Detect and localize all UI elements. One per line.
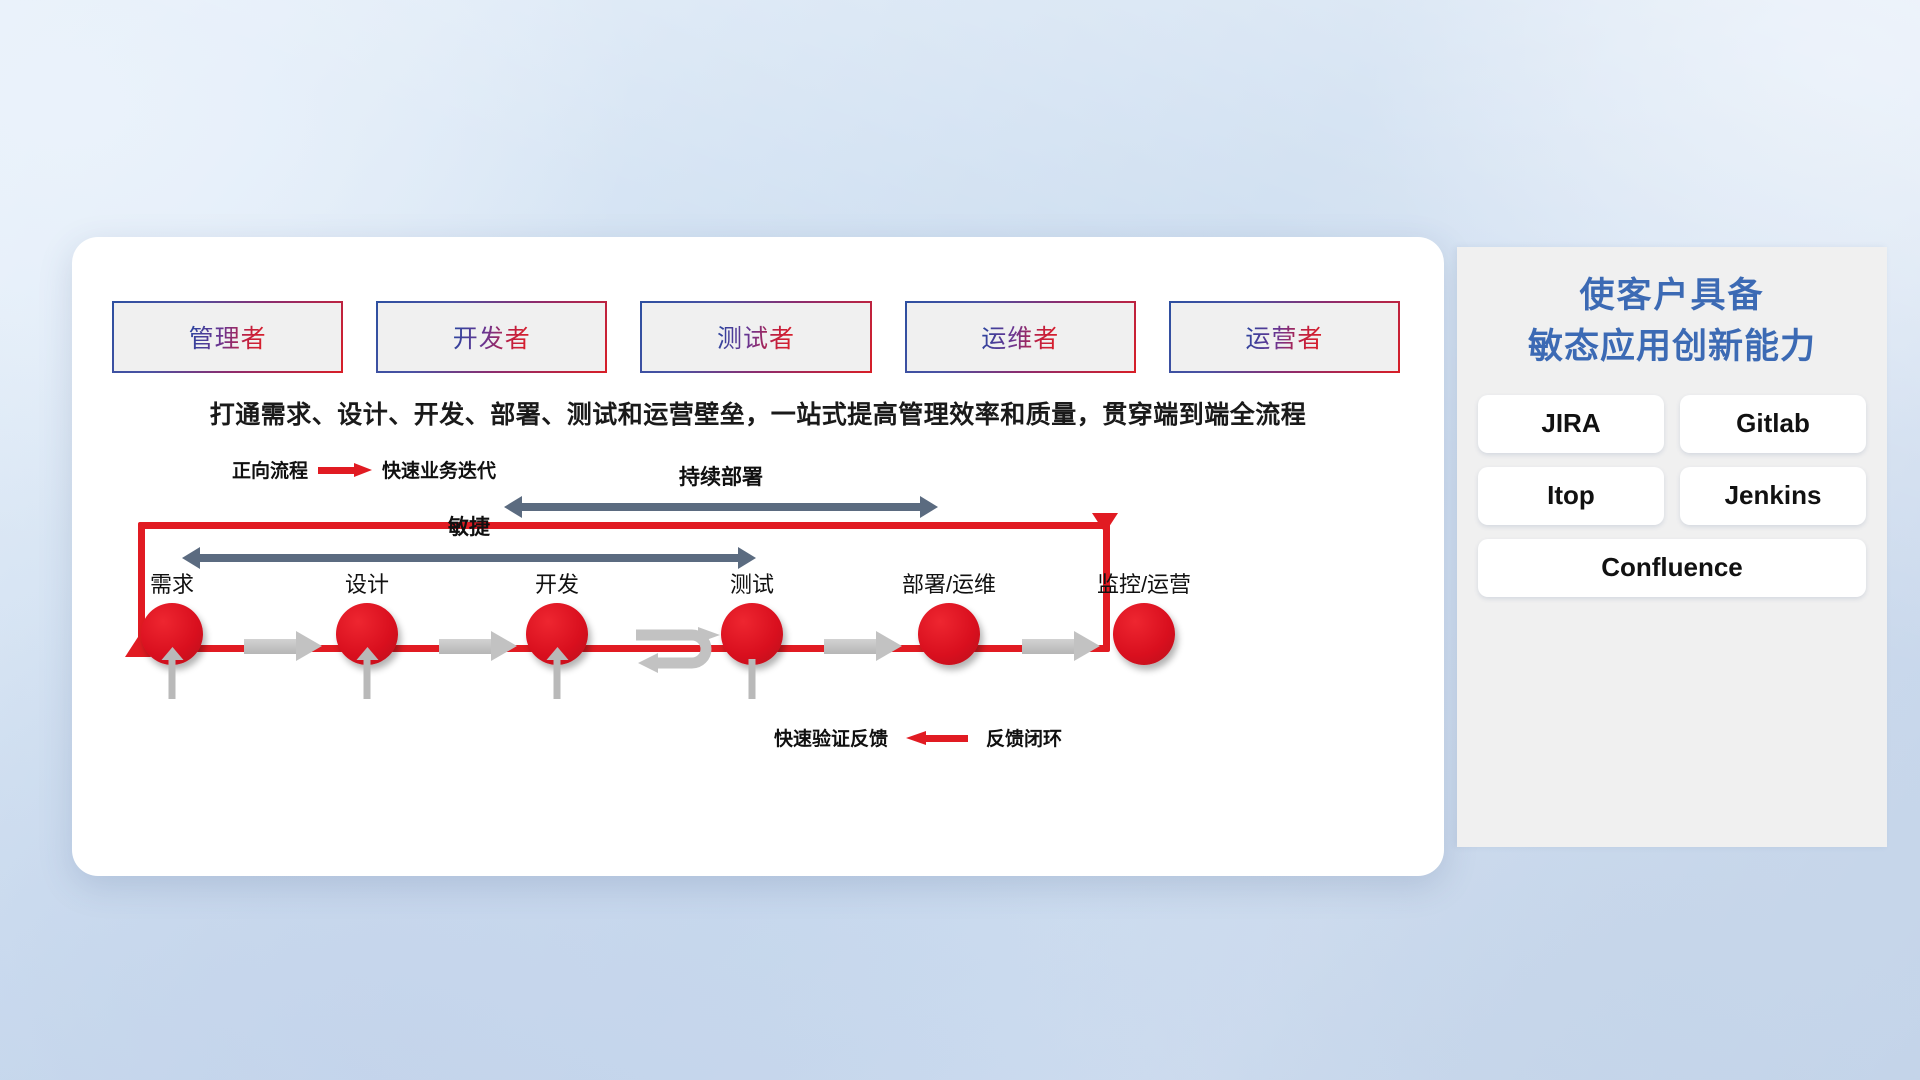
node-label: 监控/运营 [1084,567,1204,599]
role-box-ops[interactable]: 运维者 [905,301,1136,373]
role-label: 开发者 [453,319,531,355]
legend-forward-right-label: 快速业务迭代 [382,456,496,483]
legend-forward-left-label: 正向流程 [232,456,308,483]
node-label: 需求 [112,567,232,599]
right-panel-title: 使客户具备 敏态应用创新能力 [1457,247,1887,373]
role-label: 管理者 [189,319,267,355]
node-dot-icon [918,603,980,665]
arrow-head-left-icon [182,547,200,569]
node-label: 部署/运维 [889,567,1009,599]
right-panel-title-line1: 使客户具备 [1457,271,1887,322]
node-label: 开发 [497,567,617,599]
pipeline-node-design[interactable]: 设计 [307,567,427,665]
legend-feedback-loop: 快速验证反馈 反馈闭环 [774,724,1062,751]
node-stem-up-icon [364,659,371,699]
right-panel-title-line2: 敏态应用创新能力 [1457,322,1887,373]
tool-list: JIRA Gitlab Itop Jenkins Confluence [1469,395,1875,597]
arrow-head-right-icon [920,496,938,518]
arrow-right-red-icon [318,463,372,477]
right-panel: 使客户具备 敏态应用创新能力 JIRA Gitlab Itop Jenkins … [1457,247,1887,847]
description-text: 打通需求、设计、开发、部署、测试和运营壁垒，一站式提高管理效率和质量，贯穿端到端… [72,395,1444,431]
tool-label: Itop [1547,480,1595,511]
pipeline-node-testing[interactable]: 测试 [692,567,812,665]
node-label: 设计 [307,567,427,599]
span-label-continuous-deployment: 持续部署 [504,461,938,491]
role-label: 测试者 [717,319,795,355]
node-stem-icon [749,659,756,699]
tool-gitlab[interactable]: Gitlab [1680,395,1866,453]
role-label: 运营者 [1245,319,1323,355]
node-stem-up-icon [554,659,561,699]
main-card: 管理者 开发者 测试者 运维者 运营者 打通需求、设计、开发、部署、测试和运营壁… [72,237,1444,876]
role-box-manager[interactable]: 管理者 [112,301,343,373]
loop-arrow-down-icon [1092,513,1118,533]
legend-feedback-left-label: 快速验证反馈 [774,724,888,751]
pipeline-node-deploy-ops[interactable]: 部署/运维 [889,567,1009,665]
tool-confluence[interactable]: Confluence [1478,539,1866,597]
pipeline: 需求 设计 开发 测试 [72,567,1444,687]
arrow-left-red-icon [906,731,968,745]
node-dot-icon [721,603,783,665]
tool-label: Jenkins [1725,480,1822,511]
double-arrow-agile [182,547,756,569]
role-box-tester[interactable]: 测试者 [640,301,871,373]
node-dot-icon [1113,603,1175,665]
node-label: 测试 [692,567,812,599]
tool-label: Confluence [1601,552,1743,583]
role-box-operations[interactable]: 运营者 [1169,301,1400,373]
role-box-row: 管理者 开发者 测试者 运维者 运营者 [112,301,1400,373]
tool-label: JIRA [1541,408,1600,439]
pipeline-node-development[interactable]: 开发 [497,567,617,665]
tool-label: Gitlab [1736,408,1810,439]
tool-jenkins[interactable]: Jenkins [1680,467,1866,525]
legend-forward-flow: 正向流程 快速业务迭代 [232,456,496,483]
pipeline-node-monitor-operations[interactable]: 监控/运营 [1084,567,1204,665]
pipeline-node-requirement[interactable]: 需求 [112,567,232,665]
legend-feedback-right-label: 反馈闭环 [986,724,1062,751]
arrow-bar [199,554,739,562]
arrow-head-right-icon [738,547,756,569]
arrow-bar [521,503,921,511]
tool-jira[interactable]: JIRA [1478,395,1664,453]
role-label: 运维者 [981,319,1059,355]
node-stem-up-icon [169,659,176,699]
tool-itop[interactable]: Itop [1478,467,1664,525]
span-label-agile: 敏捷 [182,511,756,541]
role-box-developer[interactable]: 开发者 [376,301,607,373]
